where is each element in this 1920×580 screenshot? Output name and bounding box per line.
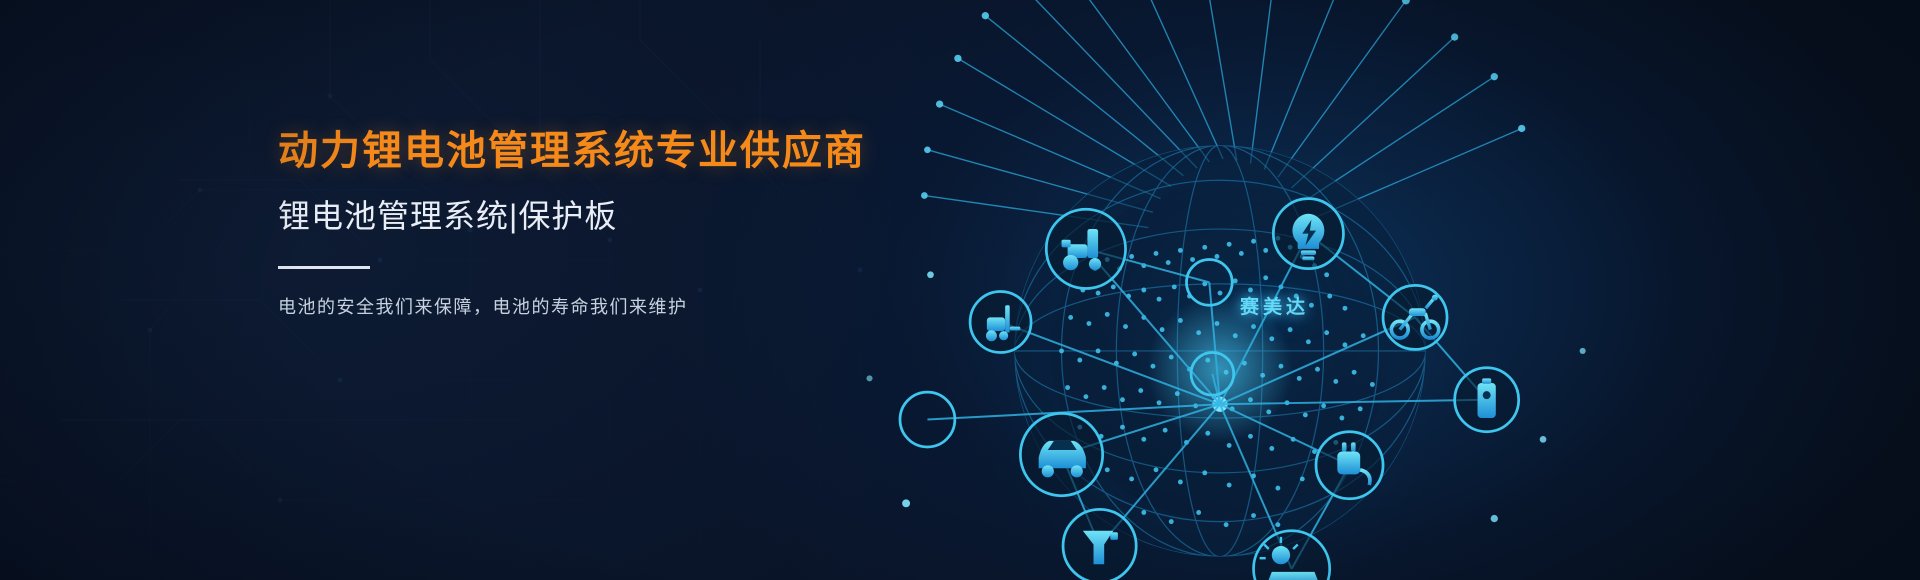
- globe-svg: [830, 0, 1610, 580]
- banner-headline: 动力锂电池管理系统专业供应商: [278, 128, 918, 175]
- banner-subheadline: 锂电池管理系统|保护板: [278, 197, 918, 235]
- globe-graphic: [830, 0, 1610, 580]
- car-icon: [1020, 413, 1102, 495]
- drill-icon: [1063, 509, 1136, 580]
- banner-copy: 动力锂电池管理系统专业供应商 锂电池管理系统|保护板 电池的安全我们来保障，电池…: [278, 128, 918, 320]
- battery-icon: [1455, 368, 1519, 432]
- divider-rule: [278, 266, 370, 269]
- lightbulb-icon: [1273, 199, 1343, 269]
- forklift-icon: [970, 292, 1031, 353]
- banner-tagline: 电池的安全我们来保障，电池的寿命我们来维护: [278, 295, 918, 320]
- tractor-icon: [1046, 209, 1125, 288]
- scooter-icon: [1383, 285, 1447, 349]
- plug-icon: [1316, 432, 1383, 499]
- hero-banner: 动力锂电池管理系统专业供应商 锂电池管理系统|保护板 电池的安全我们来保障，电池…: [0, 0, 1920, 580]
